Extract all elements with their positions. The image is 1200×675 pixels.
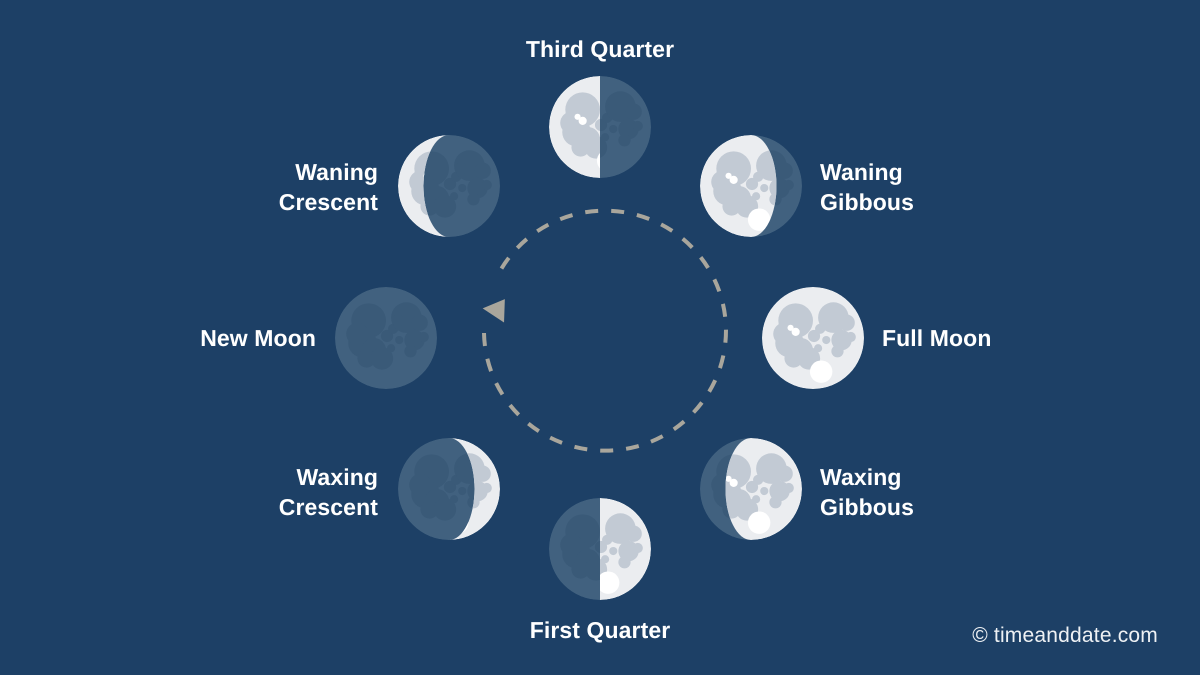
moon-phase-waning-gibbous bbox=[700, 135, 802, 237]
phase-label-waning-crescent: Waning Crescent bbox=[279, 157, 378, 217]
phase-label-waning-gibbous: Waning Gibbous bbox=[820, 157, 914, 217]
moon-phase-waxing-gibbous bbox=[700, 438, 802, 540]
moon-phase-waning-crescent bbox=[398, 135, 500, 237]
phase-label-full-moon: Full Moon bbox=[882, 323, 991, 353]
orbit-dashed-circle bbox=[484, 211, 726, 451]
moon-phase-first-quarter bbox=[549, 498, 651, 600]
moon-phase-third-quarter bbox=[549, 76, 651, 178]
moon-phases-diagram: Third QuarterWaning GibbousFull MoonWaxi… bbox=[0, 0, 1200, 675]
credit-footer: © timeanddate.com bbox=[972, 624, 1158, 648]
orbit-arrow bbox=[460, 205, 750, 475]
moon-phase-new-moon bbox=[335, 287, 437, 389]
moon-phase-full-moon bbox=[762, 287, 864, 389]
moon-phase-waxing-crescent bbox=[398, 438, 500, 540]
phase-label-waxing-gibbous: Waxing Gibbous bbox=[820, 462, 914, 522]
orbit-arrowhead-icon bbox=[482, 299, 512, 327]
phase-label-waxing-crescent: Waxing Crescent bbox=[279, 462, 378, 522]
phase-label-new-moon: New Moon bbox=[200, 323, 316, 353]
phase-label-third-quarter: Third Quarter bbox=[0, 34, 1200, 64]
